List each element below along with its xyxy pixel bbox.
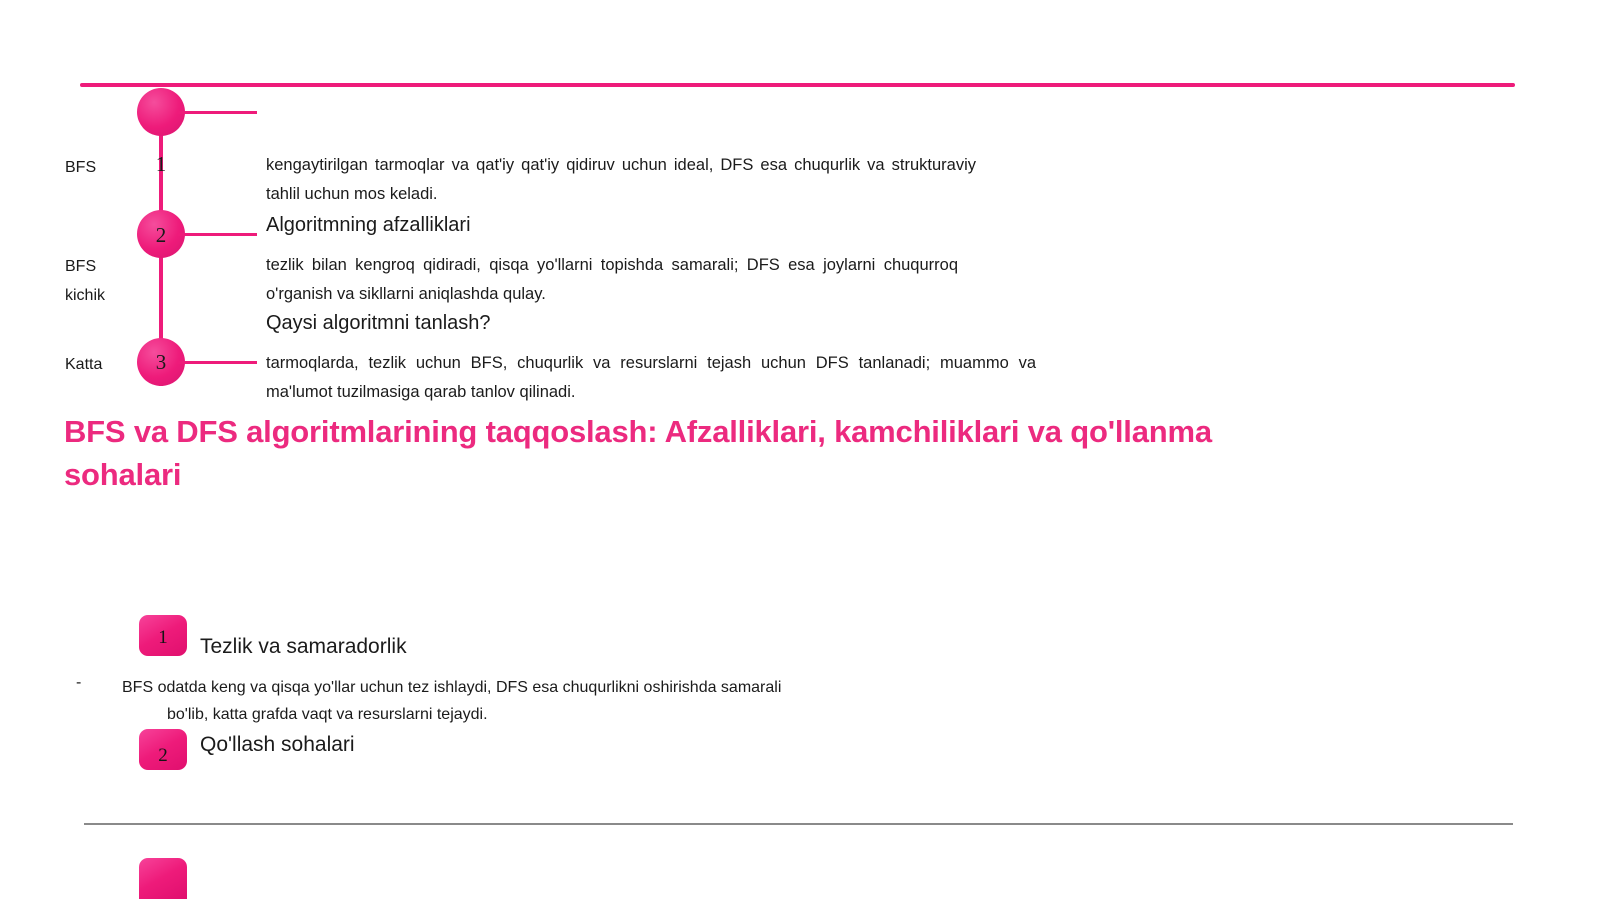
section-badge-3[interactable] bbox=[139, 858, 187, 899]
body-paragraph-2: tezlik bilan kengroq qidiradi, qisqa yo'… bbox=[266, 251, 958, 309]
side-label-2-line1: BFS bbox=[65, 252, 105, 281]
body-subheading-1: Algoritmning afzalliklari bbox=[266, 211, 471, 239]
bullet-marker: - bbox=[76, 674, 81, 692]
timeline-number-2: 2 bbox=[137, 223, 185, 248]
side-label-1: BFS bbox=[65, 153, 96, 182]
section-title-2: Qo'llash sohalari bbox=[200, 731, 355, 759]
side-label-2-line2: kichik bbox=[65, 281, 105, 310]
body-subheading-2: Qaysi algoritmni tanlash? bbox=[266, 309, 491, 337]
side-label-2: BFS kichik bbox=[65, 252, 105, 310]
bullet-text: BFS odatda keng va qisqa yo'llar uchun t… bbox=[122, 674, 1012, 728]
timeline-connector-2 bbox=[178, 233, 257, 236]
section-badge-number-1: 1 bbox=[139, 627, 187, 649]
side-label-3: Katta bbox=[65, 350, 102, 379]
bullet-line-2: bo'lib, katta grafda vaqt va resurslarni… bbox=[122, 701, 1012, 728]
body-paragraph-3: tarmoqlarda, tezlik uchun BFS, chuqurlik… bbox=[266, 349, 1036, 407]
timeline-number-1: 1 bbox=[137, 152, 185, 177]
section-badge-number-2: 2 bbox=[139, 745, 187, 767]
section-title-1: Tezlik va samaradorlik bbox=[200, 633, 407, 661]
timeline-number-3: 3 bbox=[137, 350, 185, 375]
bullet-line-1: BFS odatda keng va qisqa yo'llar uchun t… bbox=[122, 679, 781, 696]
body-paragraph-1: kengaytirilgan tarmoqlar va qat'iy qat'i… bbox=[266, 151, 976, 209]
page-title: BFS va DFS algoritmlarining taqqoslash: … bbox=[64, 410, 1244, 496]
slide-canvas: 1 2 3 BFS BFS kichik Katta kengaytirilga… bbox=[0, 0, 1600, 899]
timeline-connector-3 bbox=[178, 361, 257, 364]
timeline-connector-1 bbox=[178, 111, 257, 114]
top-accent-rule bbox=[80, 83, 1515, 87]
section-divider bbox=[84, 823, 1513, 825]
